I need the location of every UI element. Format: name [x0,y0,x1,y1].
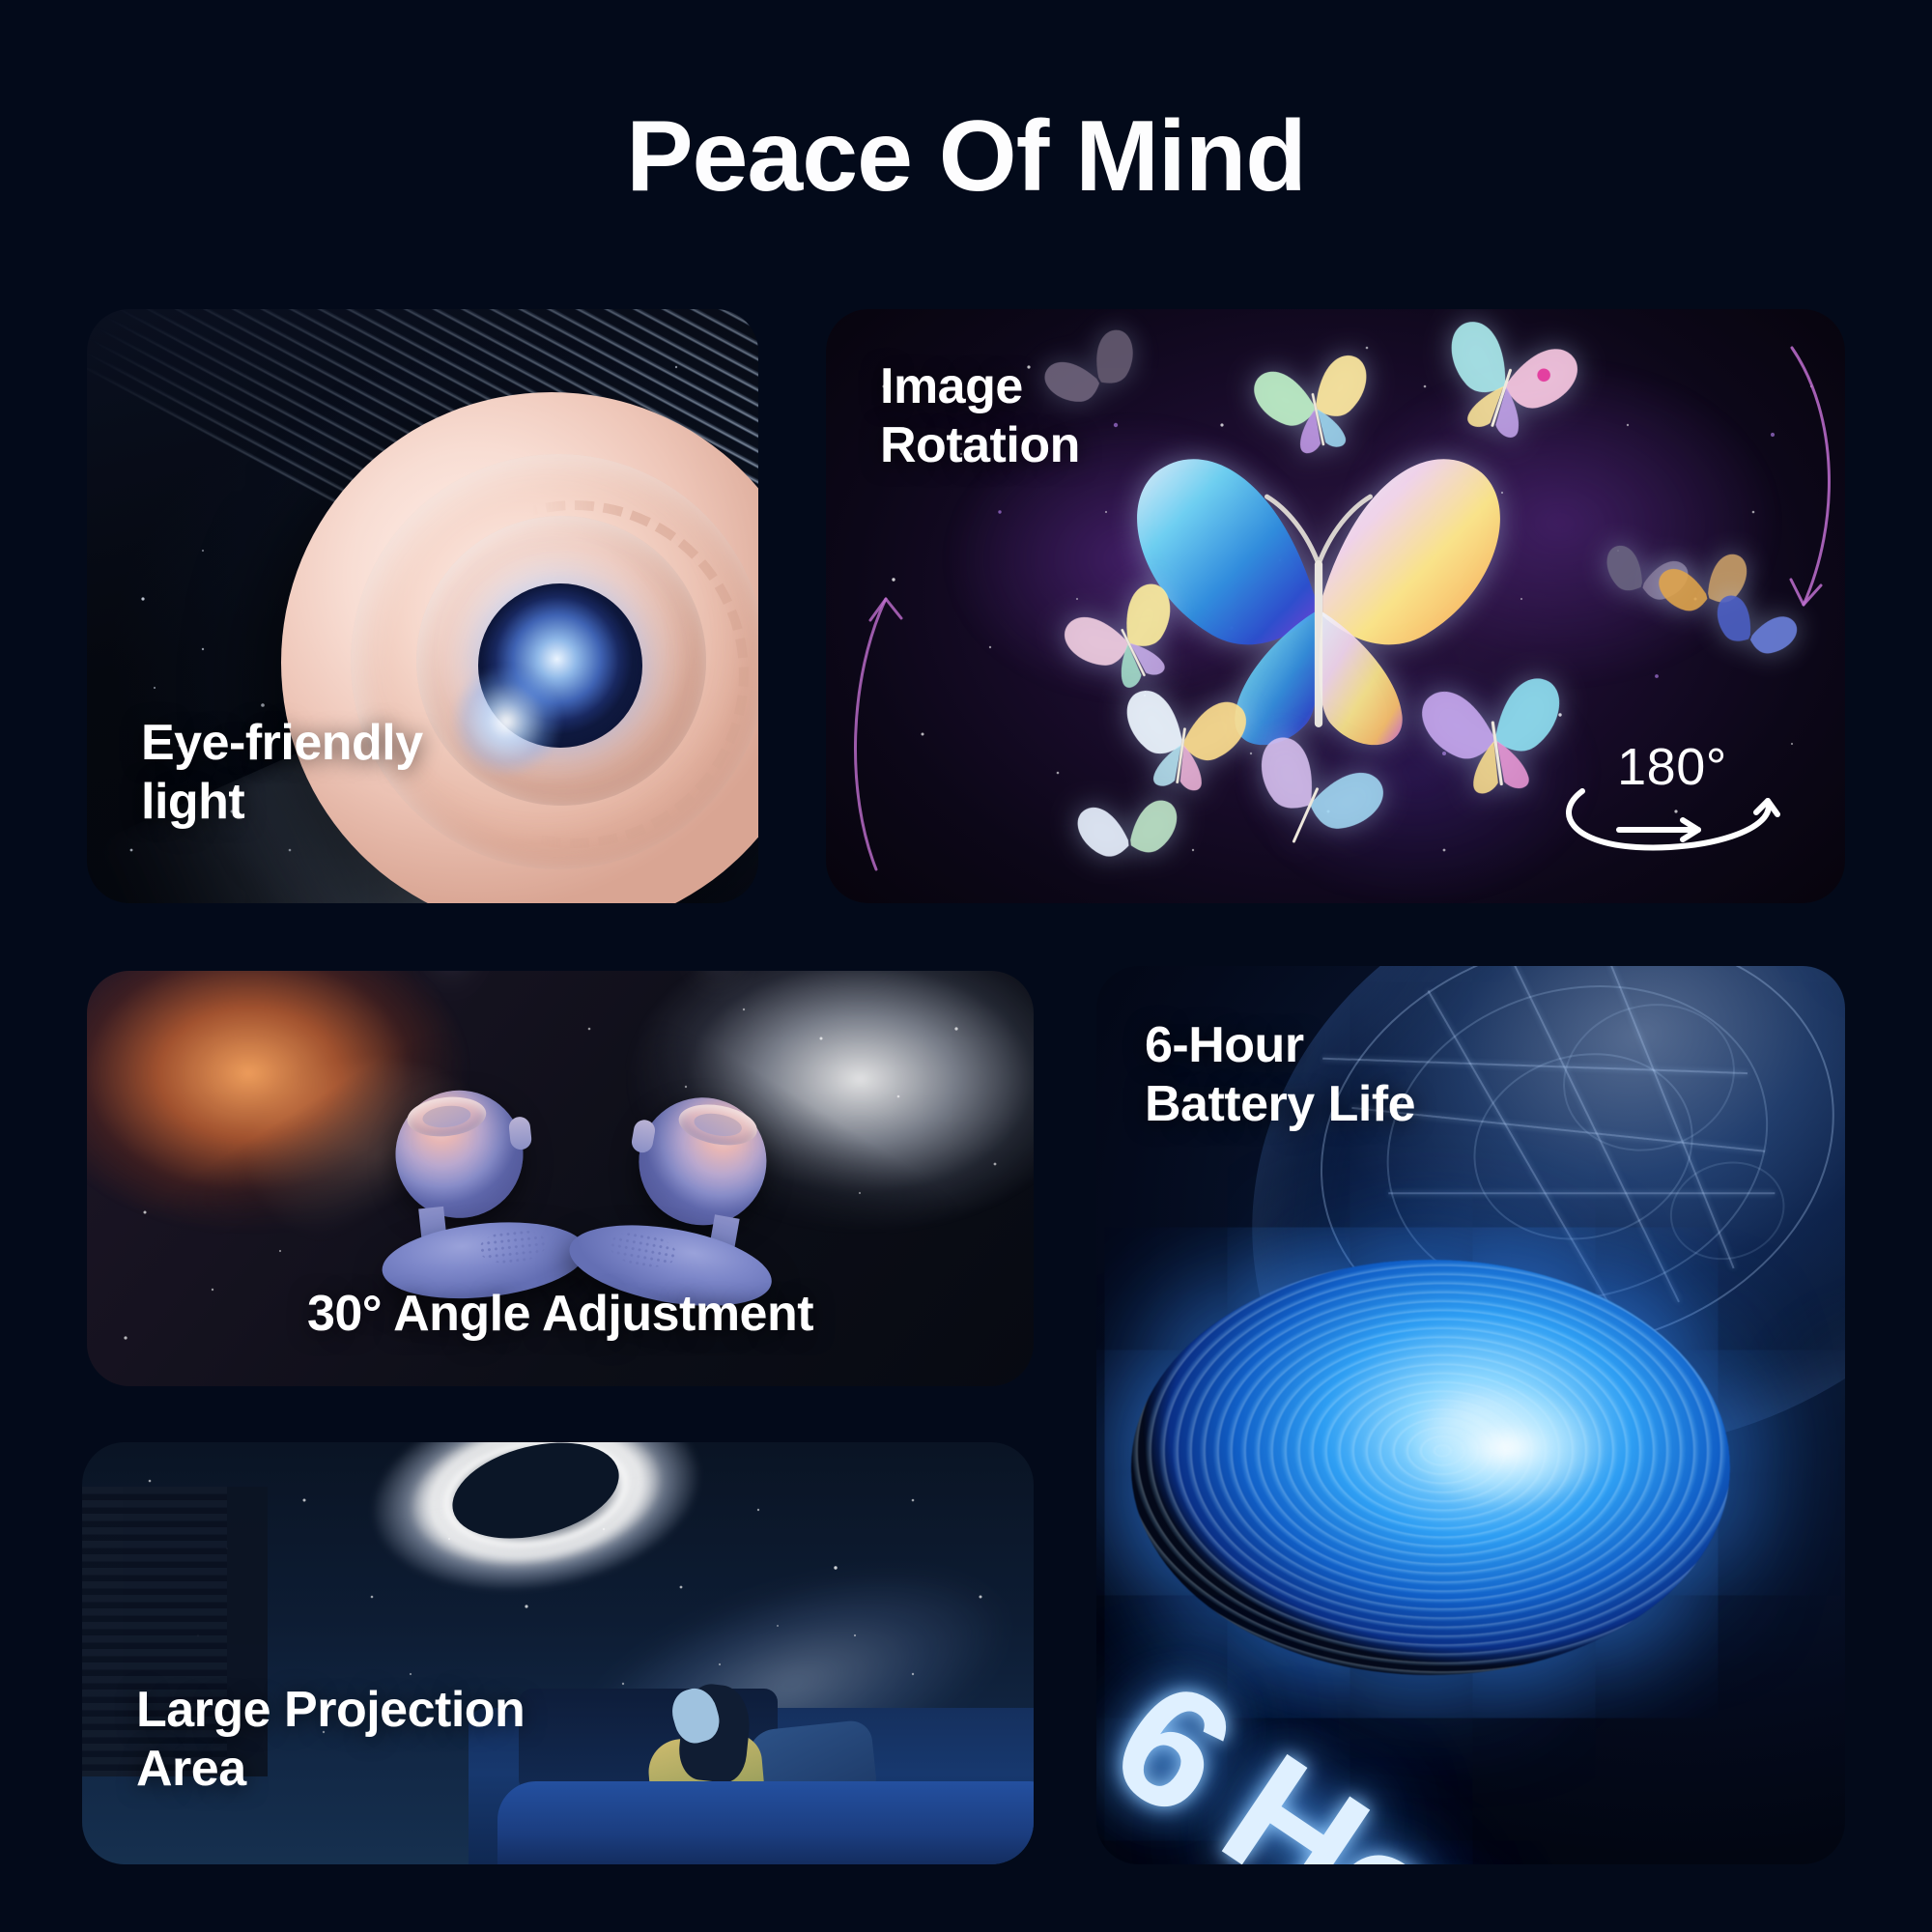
blanket [497,1781,1034,1864]
projector-side-nub [508,1116,532,1151]
disc-core-glow [1386,1376,1628,1520]
panel-eye-friendly-light[interactable]: Eye-friendly light [87,309,758,903]
butterfly-small-5 [1408,659,1579,810]
rotation-badge: 180° [1561,741,1783,853]
panel-label-image-rotation: Image Rotation [880,357,1080,475]
butterfly-small-4 [1108,673,1258,805]
panel-battery-life[interactable]: 6 Hours 6-Hour Battery Life [1096,966,1845,1864]
panel-label-large-projection-area: Large Projection Area [136,1681,525,1799]
panel-large-projection-area[interactable]: Large Projection Area [82,1442,1034,1864]
rotation-arrow-icon [1561,770,1783,853]
panel-label-eye-friendly-light: Eye-friendly light [141,714,423,832]
panel-label-angle-adjustment: 30° Angle Adjustment [87,1285,1034,1344]
panel-label-battery-life: 6-Hour Battery Life [1145,1016,1415,1134]
battery-hours-overlay: 6 Hours [1096,1641,1690,1864]
butterfly-small-11 [1068,786,1190,893]
lens-glow [434,649,579,794]
panel-image-rotation[interactable]: Image Rotation 180° [826,309,1845,903]
panel-angle-adjustment[interactable]: 30° Angle Adjustment [87,971,1034,1386]
page-title: Peace Of Mind [0,104,1932,210]
